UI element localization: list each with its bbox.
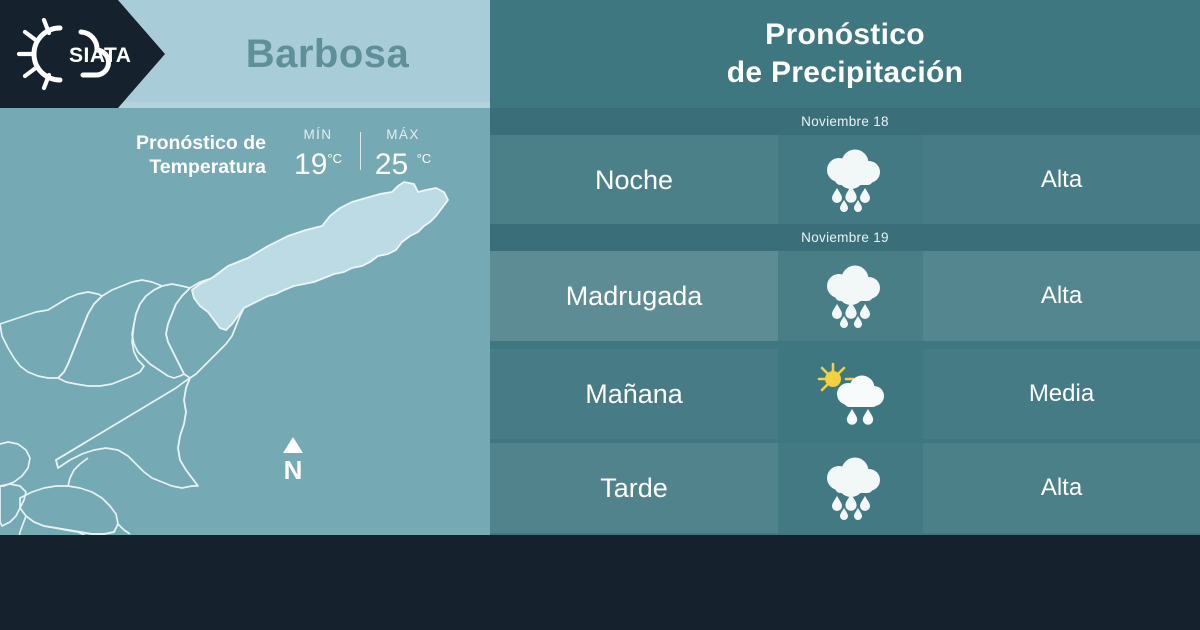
date-band-second: Noviembre 19: [490, 224, 1200, 251]
aburra-valley-map: [0, 138, 490, 535]
siata-logo: SIATA: [14, 12, 134, 96]
footer: @siatamedellin www.siata.gov.co Con el a…: [0, 535, 1200, 630]
row-probability-label: Media: [923, 380, 1200, 408]
forecast-row: Noche Alta: [490, 135, 1200, 225]
municipality-itagui: [20, 486, 118, 534]
logo-wordmark: SIATA: [69, 44, 131, 67]
municipality-barbosa: [192, 182, 448, 330]
rain-cloud-glyph: [815, 264, 887, 328]
row-time-label: Noche: [490, 165, 778, 196]
municipality-la-estrella: [0, 484, 26, 526]
sun-cloud-icon: SIATA: [14, 12, 134, 96]
municipality-upper-left: [0, 292, 102, 378]
weather-forecast-poster: SIATA Barbosa Pronóstico de Temperatura …: [0, 0, 1200, 630]
city-title: Barbosa: [165, 0, 490, 108]
precipitation-header: Pronóstico de Precipitación: [490, 0, 1200, 108]
precipitation-panel: Pronóstico de Precipitación Noviembre 18…: [490, 0, 1200, 535]
sun-rain-cloud-icon: [778, 362, 923, 426]
inner-border-3: [0, 442, 30, 486]
precip-title-line1: Pronóstico: [765, 16, 925, 54]
date-band-first: Noviembre 18: [490, 108, 1200, 135]
map-panel: Pronóstico de Temperatura MÍN 19°C MÁX 2…: [0, 108, 490, 535]
row-probability-label: Alta: [923, 474, 1200, 502]
sun-rain-cloud-glyph: [812, 362, 890, 426]
compass-north-icon: N: [276, 435, 310, 487]
municipality-medellin: [56, 378, 198, 488]
row-probability-label: Alta: [923, 166, 1200, 194]
row-time-label: Madrugada: [490, 281, 778, 312]
left-header-band: SIATA Barbosa: [0, 0, 490, 108]
rain-cloud-icon: [778, 264, 923, 328]
rain-cloud-glyph: [815, 456, 887, 520]
row-probability-label: Alta: [923, 282, 1200, 310]
forecast-row: Madrugada Alta: [490, 251, 1200, 341]
rain-cloud-icon: [778, 148, 923, 212]
left-column: SIATA Barbosa Pronóstico de Temperatura …: [0, 0, 490, 535]
municipality-sabaneta: [56, 524, 130, 534]
precip-title-line2: de Precipitación: [727, 54, 964, 92]
inner-border-2: [68, 458, 88, 486]
forecast-row: Mañana: [490, 349, 1200, 439]
north-label: N: [284, 455, 303, 485]
rain-cloud-glyph: [815, 148, 887, 212]
rain-cloud-icon: [778, 456, 923, 520]
row-time-label: Mañana: [490, 379, 778, 410]
forecast-row: Tarde Alta: [490, 443, 1200, 533]
north-arrow: N: [276, 435, 310, 487]
row-time-label: Tarde: [490, 473, 778, 504]
